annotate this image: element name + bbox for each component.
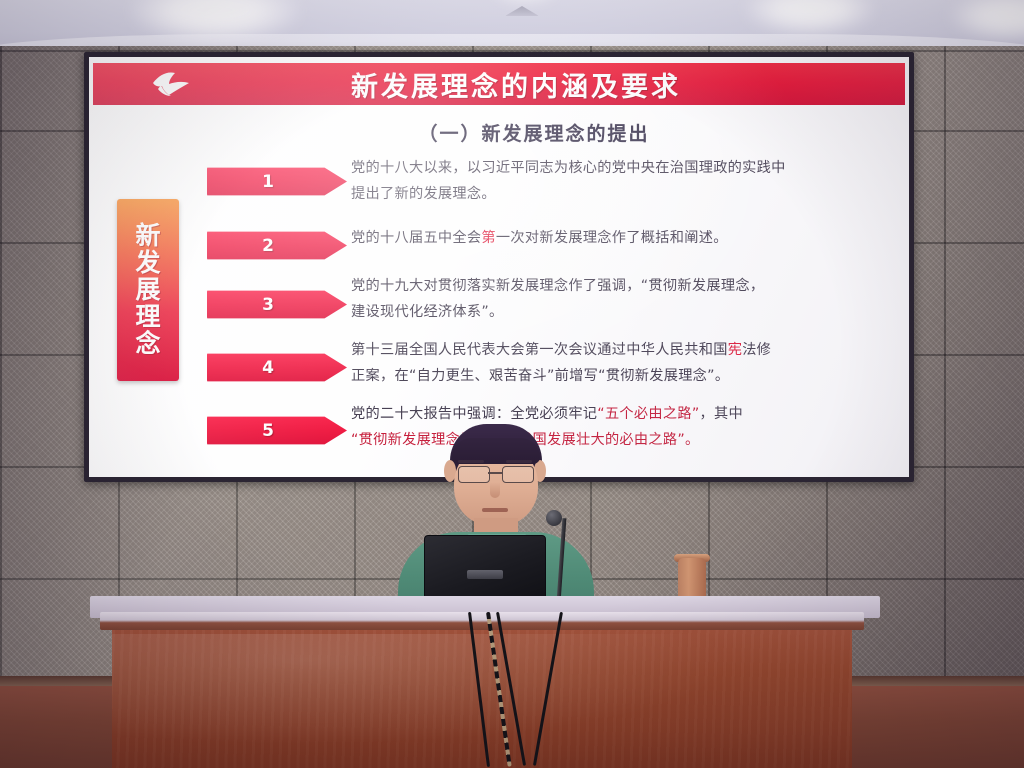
slide-item-2-line-1: 党的十八届五中全会第一次对新发展理念作了概括和阐述。	[351, 225, 909, 251]
slide-item-3-line-1: 党的十九大对贯彻落实新发展理念作了强调，“贯彻新发展理念，	[351, 273, 909, 299]
vertical-banner: 新 发 展 理 念	[117, 199, 179, 381]
arrow-number-5: 5	[262, 421, 274, 441]
presenter-nose	[490, 482, 500, 498]
glasses-bridge	[488, 472, 502, 474]
banner-char-1: 新	[135, 223, 160, 249]
numbered-arrow-3: 3	[207, 288, 347, 321]
slide-item-text-1: 党的十八大以来，以习近平同志为核心的党中央在治国理政的实践中 提出了新的发展理念…	[351, 155, 909, 207]
laptop-brand-logo	[467, 570, 503, 579]
ceiling-light-icon-3	[950, 0, 1024, 40]
banner-char-5: 念	[135, 331, 160, 357]
highlighted-char: 第	[481, 230, 496, 246]
dove-icon	[149, 69, 195, 99]
slide-item-text-3: 党的十九大对贯彻落实新发展理念作了强调，“贯彻新发展理念， 建设现代化经济体系”…	[351, 273, 909, 325]
numbered-arrow-1: 1	[207, 165, 347, 198]
laptop-lid	[424, 535, 546, 603]
slide-item-1-line-1: 党的十八大以来，以习近平同志为核心的党中央在治国理政的实践中	[351, 155, 909, 181]
ceiling-light-icon-4	[490, 0, 560, 2]
presenter-mouth	[482, 508, 508, 512]
presenter-brow-right	[506, 460, 532, 463]
banner-char-3: 展	[135, 277, 160, 303]
slide-title: 新发展理念的内涵及要求	[93, 65, 905, 104]
glasses-lens-left	[458, 466, 490, 483]
quoted-phrase: “五个必由之路”	[597, 406, 699, 422]
microphone-head-icon	[546, 510, 562, 526]
numbered-arrow-2: 2	[207, 229, 347, 262]
arrow-number-1: 1	[262, 172, 274, 192]
slide-item-3-line-2: 建设现代化经济体系”。	[351, 299, 909, 325]
highlighted-char: 宪	[728, 342, 743, 358]
presenter-brow-left	[458, 460, 484, 463]
glasses-icon	[456, 466, 536, 482]
desk-top	[100, 612, 864, 630]
arrow-number-2: 2	[262, 236, 274, 256]
slide-title-bar: 新发展理念的内涵及要求	[93, 63, 905, 105]
slide-subtitle: （一）新发展理念的提出	[89, 119, 909, 146]
slide-item-1-line-2: 提出了新的发展理念。	[351, 181, 909, 207]
slide-item-text-4: 第十三届全国人民代表大会第一次会议通过中华人民共和国宪法修 正案，在“自力更生、…	[351, 337, 909, 389]
arrow-number-3: 3	[262, 295, 274, 315]
banner-char-2: 发	[135, 250, 160, 276]
slide-item-text-2: 党的十八届五中全会第一次对新发展理念作了概括和阐述。	[351, 225, 909, 251]
banner-char-4: 理	[135, 304, 160, 330]
projection-screen: 新发展理念的内涵及要求 （一）新发展理念的提出 新 发 展 理 念 1 2 3	[89, 57, 909, 477]
podium-desk	[100, 612, 864, 768]
conference-room-scene: 新发展理念的内涵及要求 （一）新发展理念的提出 新 发 展 理 念 1 2 3	[0, 0, 1024, 768]
glasses-lens-right	[502, 466, 534, 483]
slide-item-4-line-1: 第十三届全国人民代表大会第一次会议通过中华人民共和国宪法修	[351, 337, 909, 363]
numbered-arrow-4: 4	[207, 351, 347, 384]
arrow-number-4: 4	[262, 358, 274, 378]
numbered-arrow-5: 5	[207, 414, 347, 447]
ceiling-vent-icon	[505, 6, 539, 16]
ceiling-light-icon-2	[745, 0, 875, 34]
projection-screen-frame: 新发展理念的内涵及要求 （一）新发展理念的提出 新 发 展 理 念 1 2 3	[84, 52, 914, 482]
slide-item-4-line-2: 正案，在“自力更生、艰苦奋斗”前增写“贯彻新发展理念”。	[351, 363, 909, 389]
